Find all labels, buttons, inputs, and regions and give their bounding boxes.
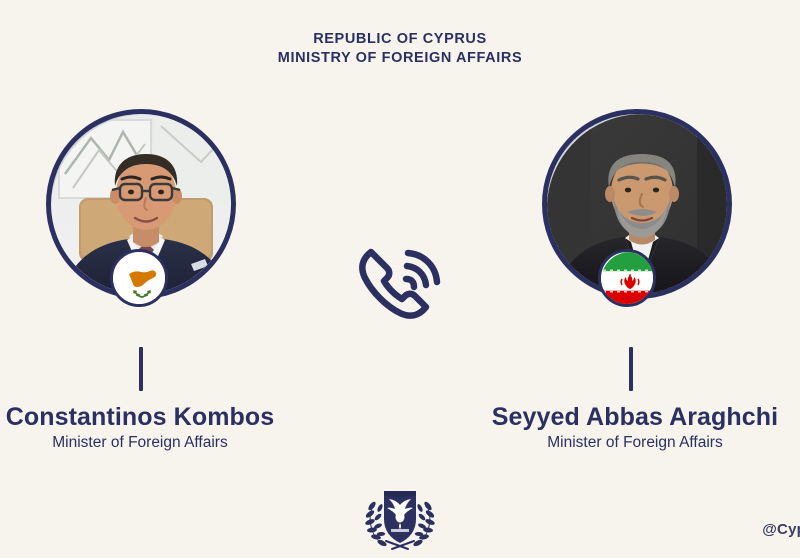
- person-name-right: Seyyed Abbas Araghchi: [435, 403, 800, 431]
- person-card-left: [46, 109, 236, 299]
- header-line-2: MINISTRY OF FOREIGN AFFAIRS: [0, 49, 800, 68]
- cyprus-coat-of-arms-icon: [358, 487, 442, 553]
- watermark-handle: @Cyp: [762, 521, 800, 538]
- header-line-1: REPUBLIC OF CYPRUS: [0, 30, 800, 49]
- poster-canvas: REPUBLIC OF CYPRUS MINISTRY OF FOREIGN A…: [0, 0, 800, 557]
- phone-call-icon: [352, 240, 448, 320]
- header: REPUBLIC OF CYPRUS MINISTRY OF FOREIGN A…: [0, 30, 800, 69]
- person-title-left: Minister of Foreign Affairs: [0, 434, 340, 453]
- person-card-right: [542, 109, 732, 299]
- flag-badge-iran: [598, 249, 656, 307]
- connector-tick-left: [139, 347, 143, 391]
- name-block-left: Constantinos Kombos Minister of Foreign …: [0, 403, 340, 453]
- flag-badge-cyprus: [110, 249, 168, 307]
- person-name-left: Constantinos Kombos: [0, 403, 340, 431]
- name-block-right: Seyyed Abbas Araghchi Minister of Foreig…: [435, 403, 800, 453]
- person-title-right: Minister of Foreign Affairs: [435, 434, 800, 453]
- connector-tick-right: [629, 347, 633, 391]
